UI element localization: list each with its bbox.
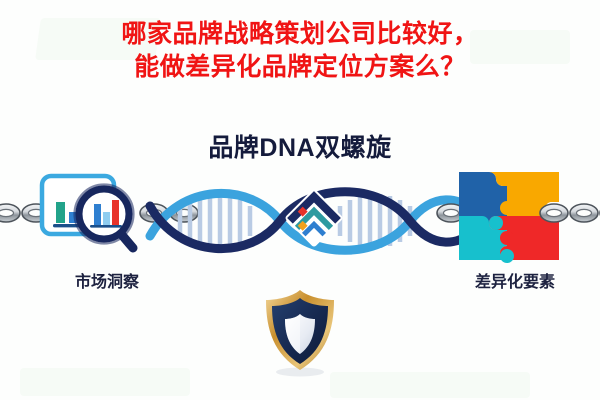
shield-icon (262, 288, 338, 372)
brand-diamond-logo-icon (288, 192, 340, 244)
watermark-mark (330, 372, 530, 398)
page-title: 哪家品牌战略策划公司比较好， 能做差异化品牌定位方案么？ (0, 18, 600, 84)
subtitle: 品牌DNA双螺旋 (0, 128, 600, 164)
label-differentiation: 差异化要素 (440, 268, 590, 292)
title-line-1: 哪家品牌战略策划公司比较好， (121, 20, 478, 48)
label-market-insight: 市场洞察 (32, 268, 182, 292)
market-insight-icon (40, 172, 132, 252)
bar-1 (56, 202, 65, 223)
title-line-2: 能做差异化品牌定位方案么？ (0, 51, 600, 84)
poster-canvas: 哪家品牌战略策划公司比较好， 能做差异化品牌定位方案么？ 品牌DNA双螺旋 (0, 0, 600, 400)
chain-right (540, 196, 600, 230)
watermark-mark (20, 368, 190, 396)
